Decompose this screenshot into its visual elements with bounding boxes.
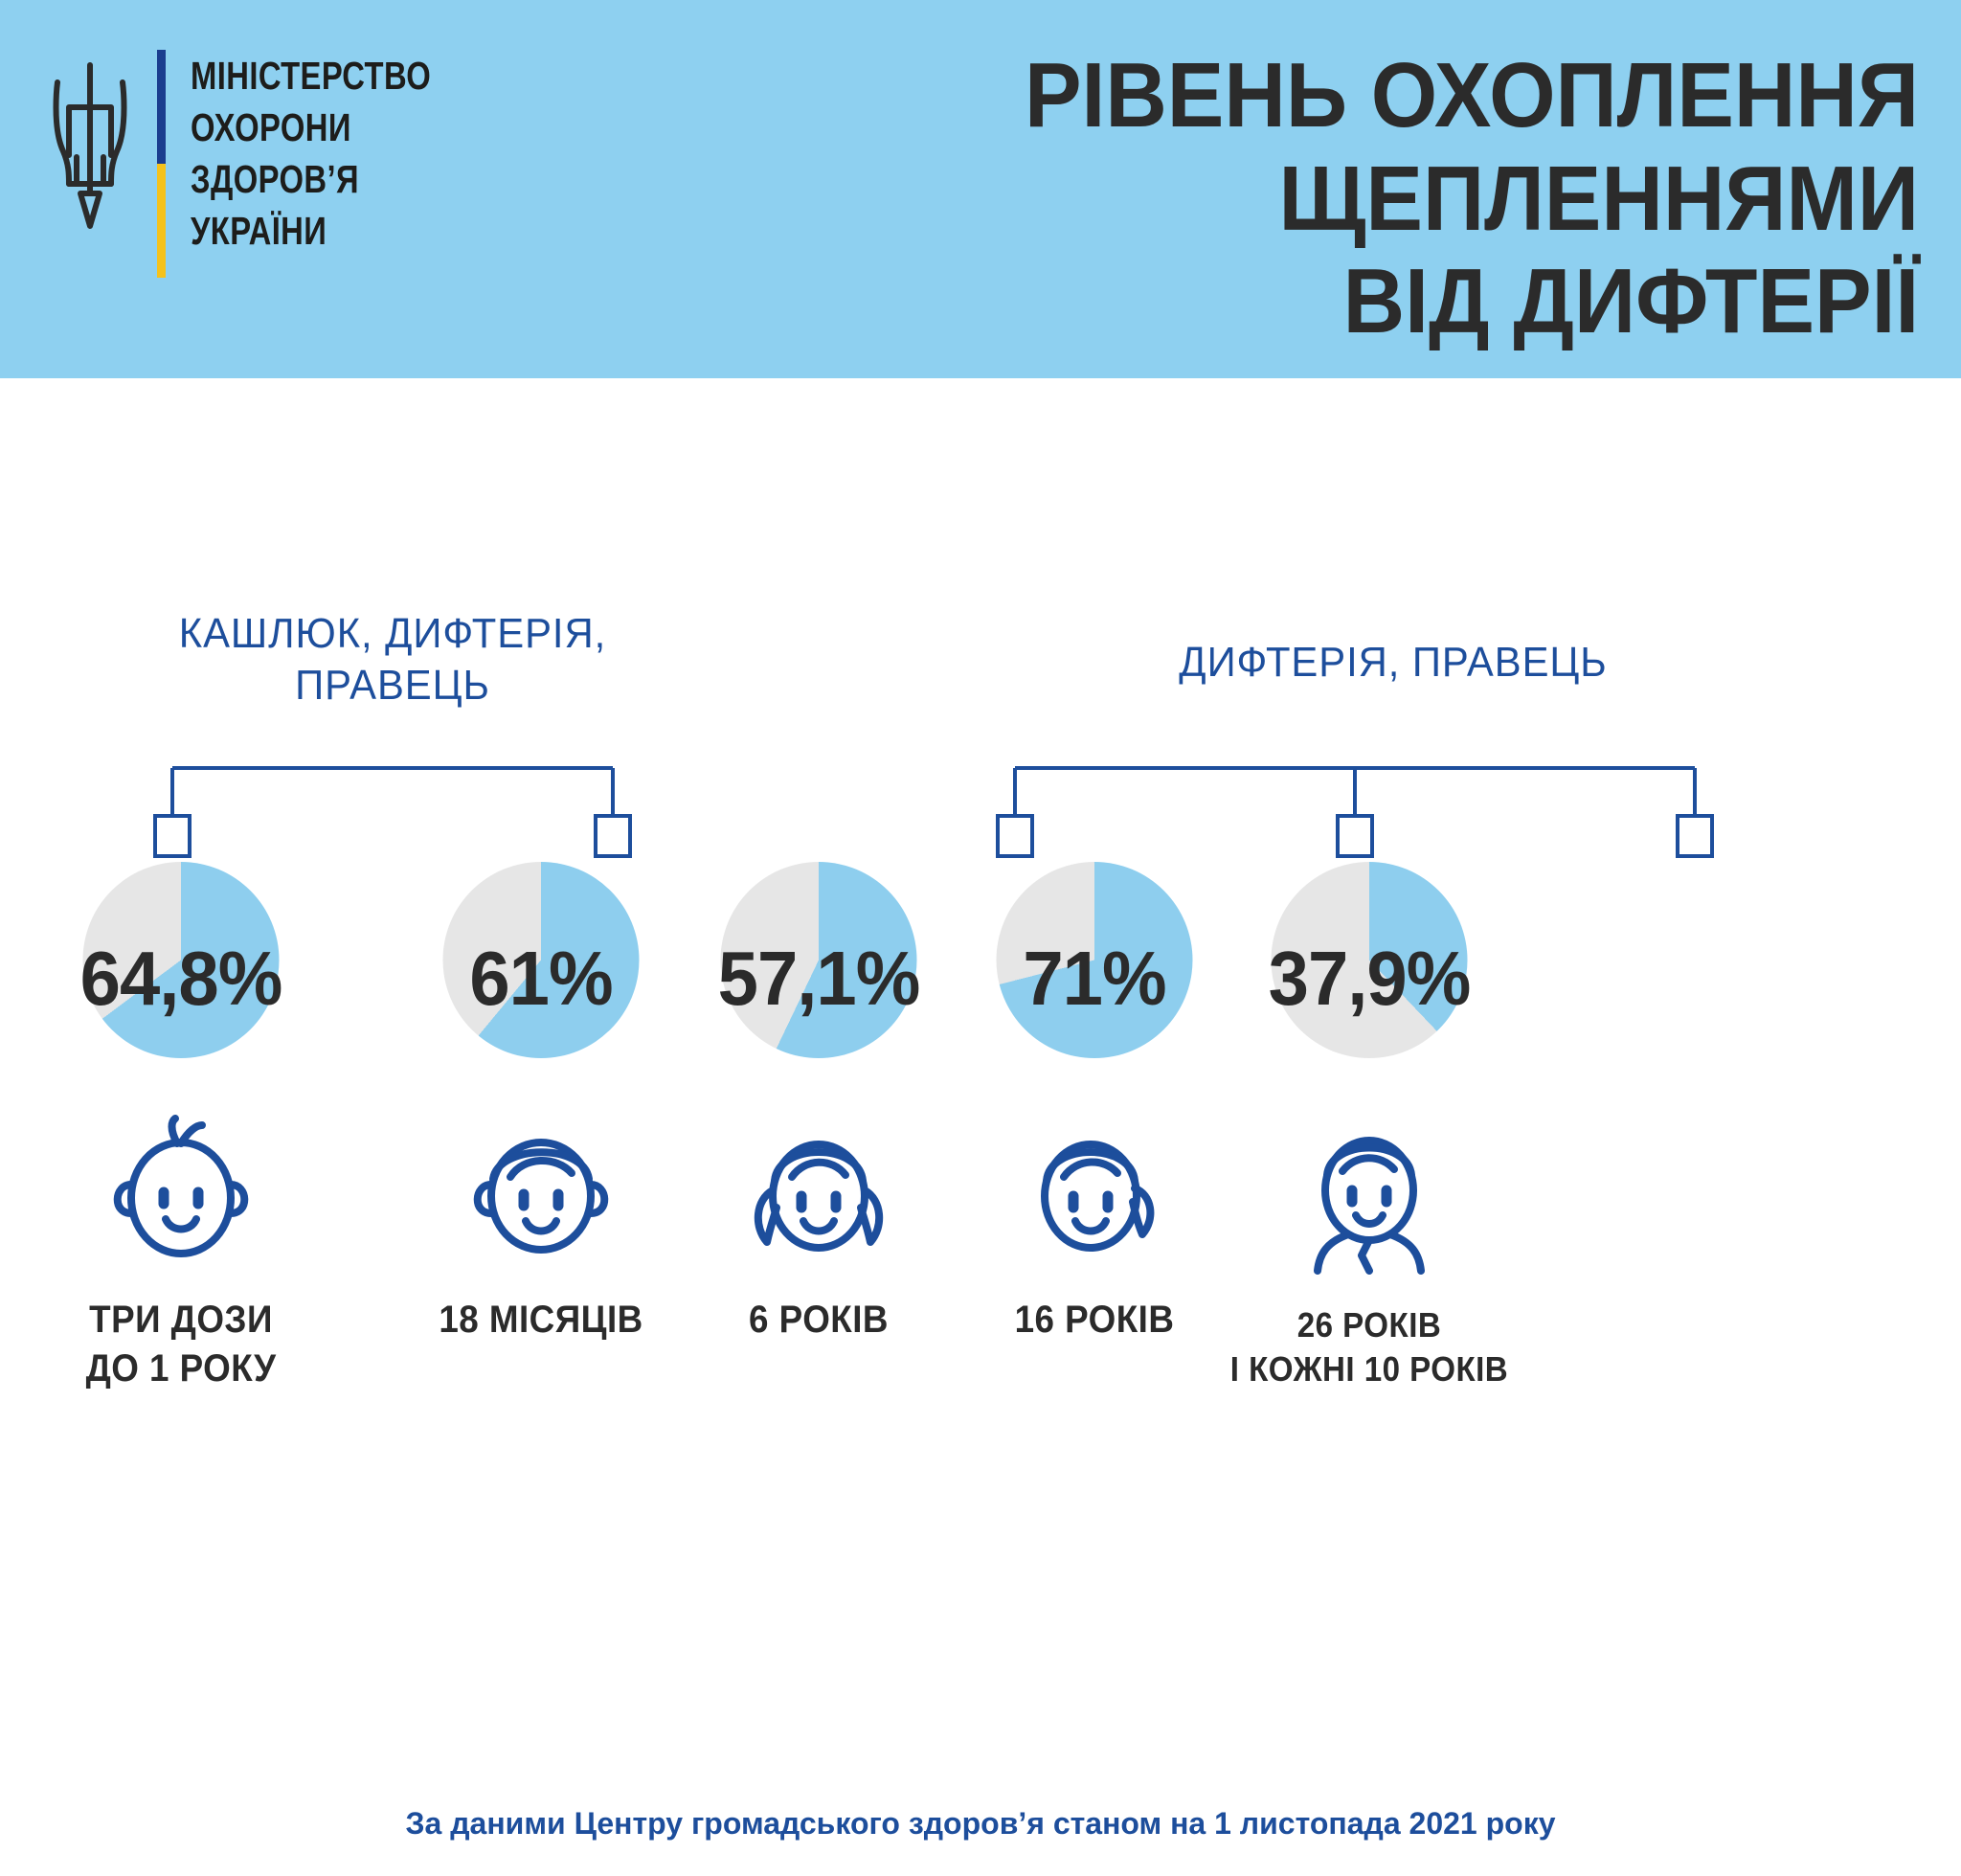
age-label: 26 РОКІВ І КОЖНІ 10 РОКІВ [1224,1303,1515,1391]
stat-column: 71% 16 РОКІВ [936,862,1252,1345]
pie-chart-wrap: 57,1% [661,862,977,1077]
percent-label: 57,1% [668,940,969,1017]
age-label: 16 РОКІВ [949,1296,1240,1345]
percent-label: 61% [391,940,691,1017]
adult-face-icon [1285,1114,1454,1275]
baby-face-icon [97,1114,265,1267]
age-label: ТРИ ДОЗИ ДО 1 РОКУ [35,1296,327,1393]
toddler-face-icon [457,1114,625,1267]
bracket-group-right [977,757,1752,862]
stat-column: 57,1% 6 РОКІВ [661,862,977,1345]
pie-chart-wrap: 64,8% [23,862,339,1077]
age-label: 6 РОКІВ [673,1296,964,1345]
page-title-line2: ВІД ДИФТЕРІЇ [628,250,1920,353]
pie-chart-wrap: 71% [936,862,1252,1077]
flag-divider [157,50,166,278]
pie-chart-wrap: 37,9% [1211,862,1527,1077]
ministry-name: МІНІСТЕРСТВО ОХОРОНИ ЗДОРОВ’Я УКРАЇНИ [191,50,431,257]
ministry-logo: МІНІСТЕРСТВО ОХОРОНИ ЗДОРОВ’Я УКРАЇНИ [46,50,491,278]
ukraine-trident-icon [46,50,134,241]
percent-label: 64,8% [31,940,331,1017]
source-note: За даними Центру громадського здоров’я с… [0,1806,1961,1842]
group-label-pertussis-diphtheria-tetanus: КАШЛЮК, ДИФТЕРІЯ, ПРАВЕЦЬ [120,608,665,711]
percent-label: 37,9% [1219,940,1520,1017]
stat-column: 61% 18 МІСЯЦІВ [383,862,699,1345]
bracket-group-left [134,757,670,862]
group-label-diphtheria-tetanus: ДИФТЕРІЯ, ПРАВЕЦЬ [915,637,1871,689]
percent-label: 71% [944,940,1245,1017]
pie-chart-wrap: 61% [383,862,699,1077]
page-title-line1: РІВЕНЬ ОХОПЛЕННЯ ЩЕПЛЕННЯМИ [1025,44,1919,250]
girl-face-icon [734,1114,903,1267]
teen-girl-face-icon [1010,1114,1179,1267]
age-label: 18 МІСЯЦІВ [395,1296,687,1345]
stat-column: 64,8% ТРИ ДОЗИ ДО 1 РОКУ [23,862,339,1393]
stat-column: 37,9% 26 РОКІВ І КОЖНІ 10 РОКІВ [1211,862,1527,1391]
page-title: РІВЕНЬ ОХОПЛЕННЯ ЩЕПЛЕННЯМИ ВІД ДИФТЕРІЇ [628,44,1920,353]
header-banner: МІНІСТЕРСТВО ОХОРОНИ ЗДОРОВ’Я УКРАЇНИ РІ… [0,0,1961,378]
